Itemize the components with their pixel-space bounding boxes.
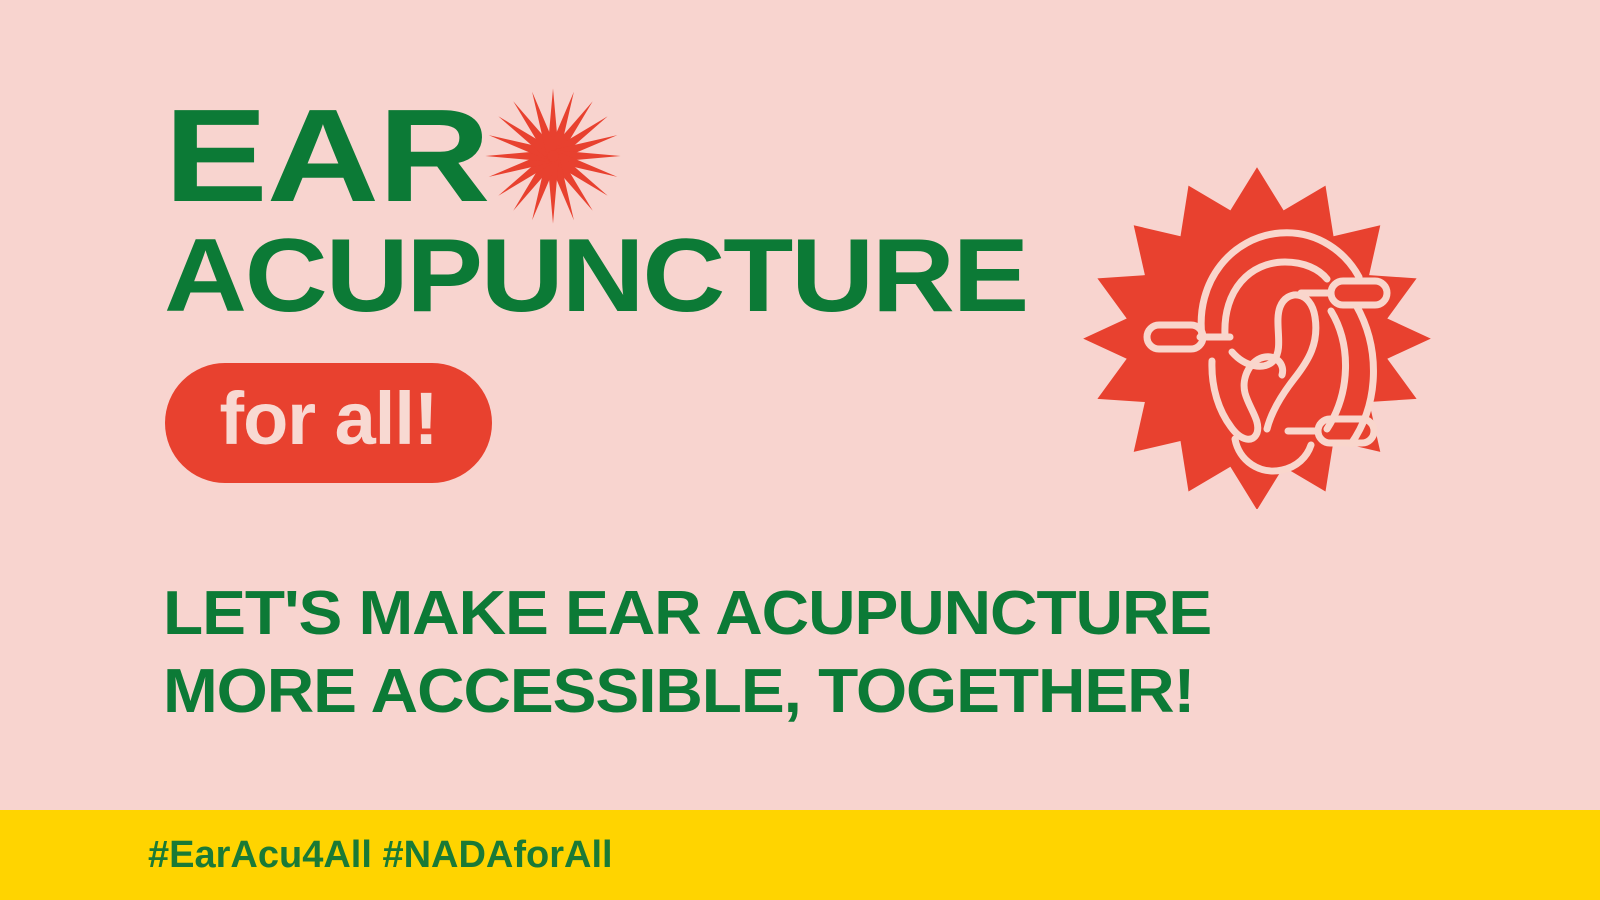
ear-acupuncture-needles-icon: [1075, 145, 1439, 509]
tagline-block: LET'S MAKE EAR ACUPUNCTURE MORE ACCESSIB…: [163, 575, 1343, 731]
headline-line-ear: EAR: [164, 90, 489, 222]
for-all-badge-label: for all!: [219, 382, 437, 456]
tagline-line-1: LET'S MAKE EAR ACUPUNCTURE: [163, 575, 1414, 653]
tagline-line-2: MORE ACCESSIBLE, TOGETHER!: [163, 653, 1414, 731]
hashtag-banner: #EarAcu4All #NADAforAll: [0, 810, 1600, 900]
hashtag-banner-text: #EarAcu4All #NADAforAll: [148, 834, 613, 877]
for-all-badge: for all!: [165, 363, 492, 483]
starburst-sparkle-icon: [484, 87, 622, 225]
headline-line-acupuncture: ACUPUNCTURE: [164, 224, 1027, 328]
poster-canvas: EAR ACUPUNCTURE: [0, 0, 1600, 900]
